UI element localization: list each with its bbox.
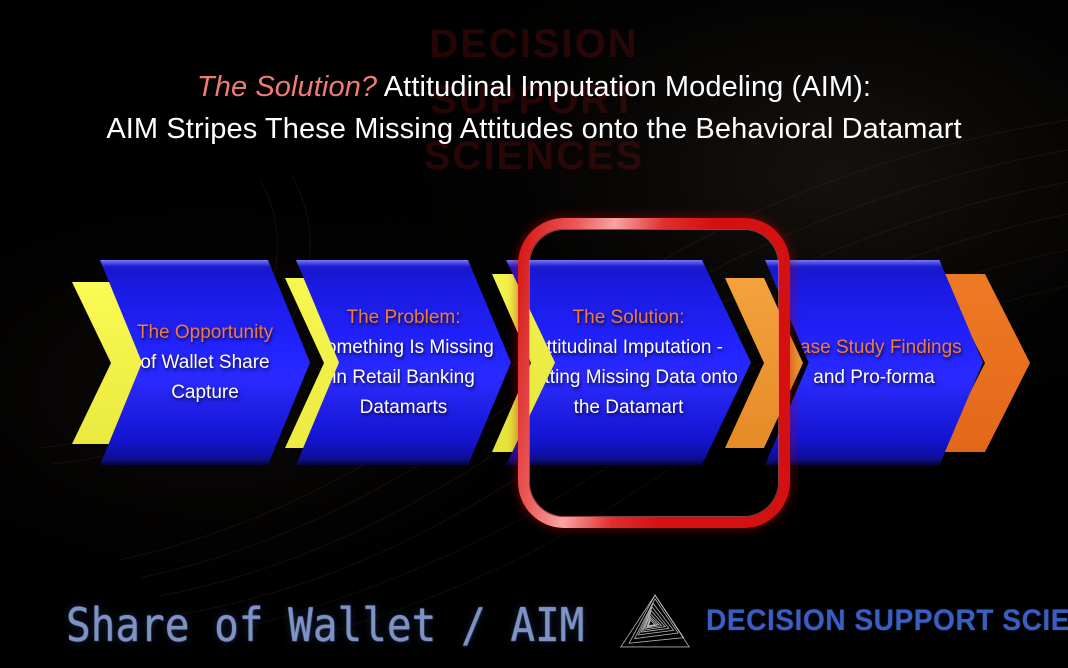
footer-company-logo: Decision Support Sciences: [618, 592, 1068, 650]
company-name-label: Decision Support Sciences: [706, 604, 1068, 638]
process-step-case-study-body: and Pro-forma: [813, 367, 934, 388]
process-step-solution-heading: The Solution:: [573, 307, 685, 328]
footer-deck-label: Share of Wallet / AIM: [66, 598, 584, 652]
recursive-triangle-logo-icon: [618, 592, 692, 650]
process-flow-band: The Opportunity of Wallet Share Capture …: [0, 252, 1068, 472]
process-step-solution-body: Attitudinal Imputation - Getting Missing…: [519, 337, 738, 418]
process-step-opportunity-heading: The Opportunity: [137, 322, 273, 343]
slide-title: The Solution? Attitudinal Imputation Mod…: [0, 66, 1068, 150]
title-line-2: AIM Stripes These Missing Attitudes onto…: [0, 108, 1068, 150]
process-step-problem-body: Something Is Missing in Retail Banking D…: [313, 337, 494, 418]
process-step-case-study-heading: Case Study Findings: [786, 337, 961, 358]
process-step-opportunity-body: of Wallet Share Capture: [140, 352, 269, 403]
process-step-problem-heading: The Problem:: [346, 307, 460, 328]
process-step-case-study-text: Case Study Findings and Pro-forma: [774, 333, 973, 393]
title-line-1-rest: Attitudinal Imputation Modeling (AIM):: [377, 71, 871, 103]
presentation-slide: Decision Support Sciences The Solution? …: [0, 0, 1068, 668]
title-line-1: The Solution? Attitudinal Imputation Mod…: [0, 66, 1068, 108]
title-accent: The Solution?: [197, 71, 377, 103]
